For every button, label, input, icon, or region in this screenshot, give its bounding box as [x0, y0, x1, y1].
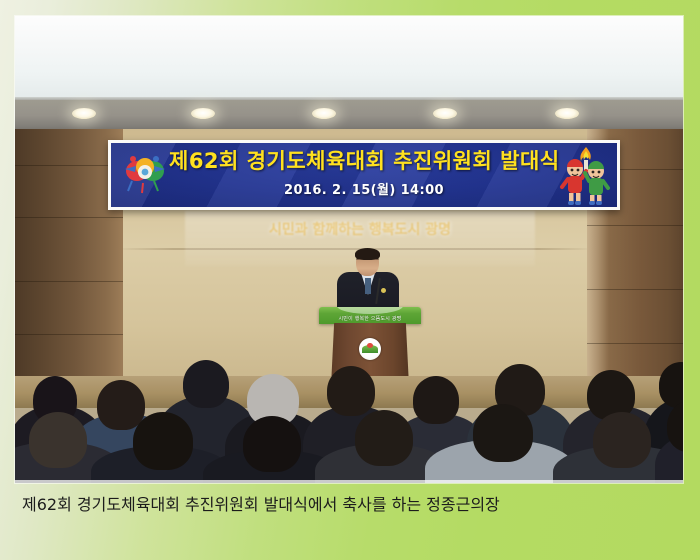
ceiling-light-icon: [191, 108, 215, 119]
projection-screen-text: 시민과 함께하는 행복도시 광명: [185, 219, 535, 239]
photo-inner-edge: [15, 480, 683, 483]
banner-title: 제62회 경기도체육대회 추진위원회 발대식: [169, 147, 559, 175]
speaker-hair: [355, 248, 380, 260]
banner-subtitle: 2016. 2. 15(월) 14:00: [111, 179, 617, 198]
event-photo: 시민과 함께하는 행복도시 광명: [15, 16, 683, 483]
ceiling-light-icon: [433, 108, 457, 119]
event-banner: 제62회 경기도체육대회 추진위원회 발대식 2016. 2. 15(월) 14…: [108, 140, 620, 210]
lapel-pin-icon: [381, 288, 386, 293]
photo-caption: 제62회 경기도체육대회 추진위원회 발대식에서 축사를 하는 정종근의장: [22, 491, 500, 515]
podium-slogan-text: 시민이 행복한 으뜸도시 광명: [319, 315, 421, 322]
left-wood-panel: [15, 129, 123, 391]
audience: [15, 354, 683, 483]
podium-banner: 시민이 행복한 으뜸도시 광명: [319, 307, 421, 324]
ceiling-light-icon: [72, 108, 96, 119]
speaker-tie: [365, 278, 371, 294]
ceiling: [15, 16, 683, 100]
torch-mascots-icon: [559, 145, 611, 207]
ceiling-light-icon: [555, 108, 579, 119]
photo-card: 시민과 함께하는 행복도시 광명: [0, 0, 700, 560]
ceiling-light-icon: [312, 108, 336, 119]
